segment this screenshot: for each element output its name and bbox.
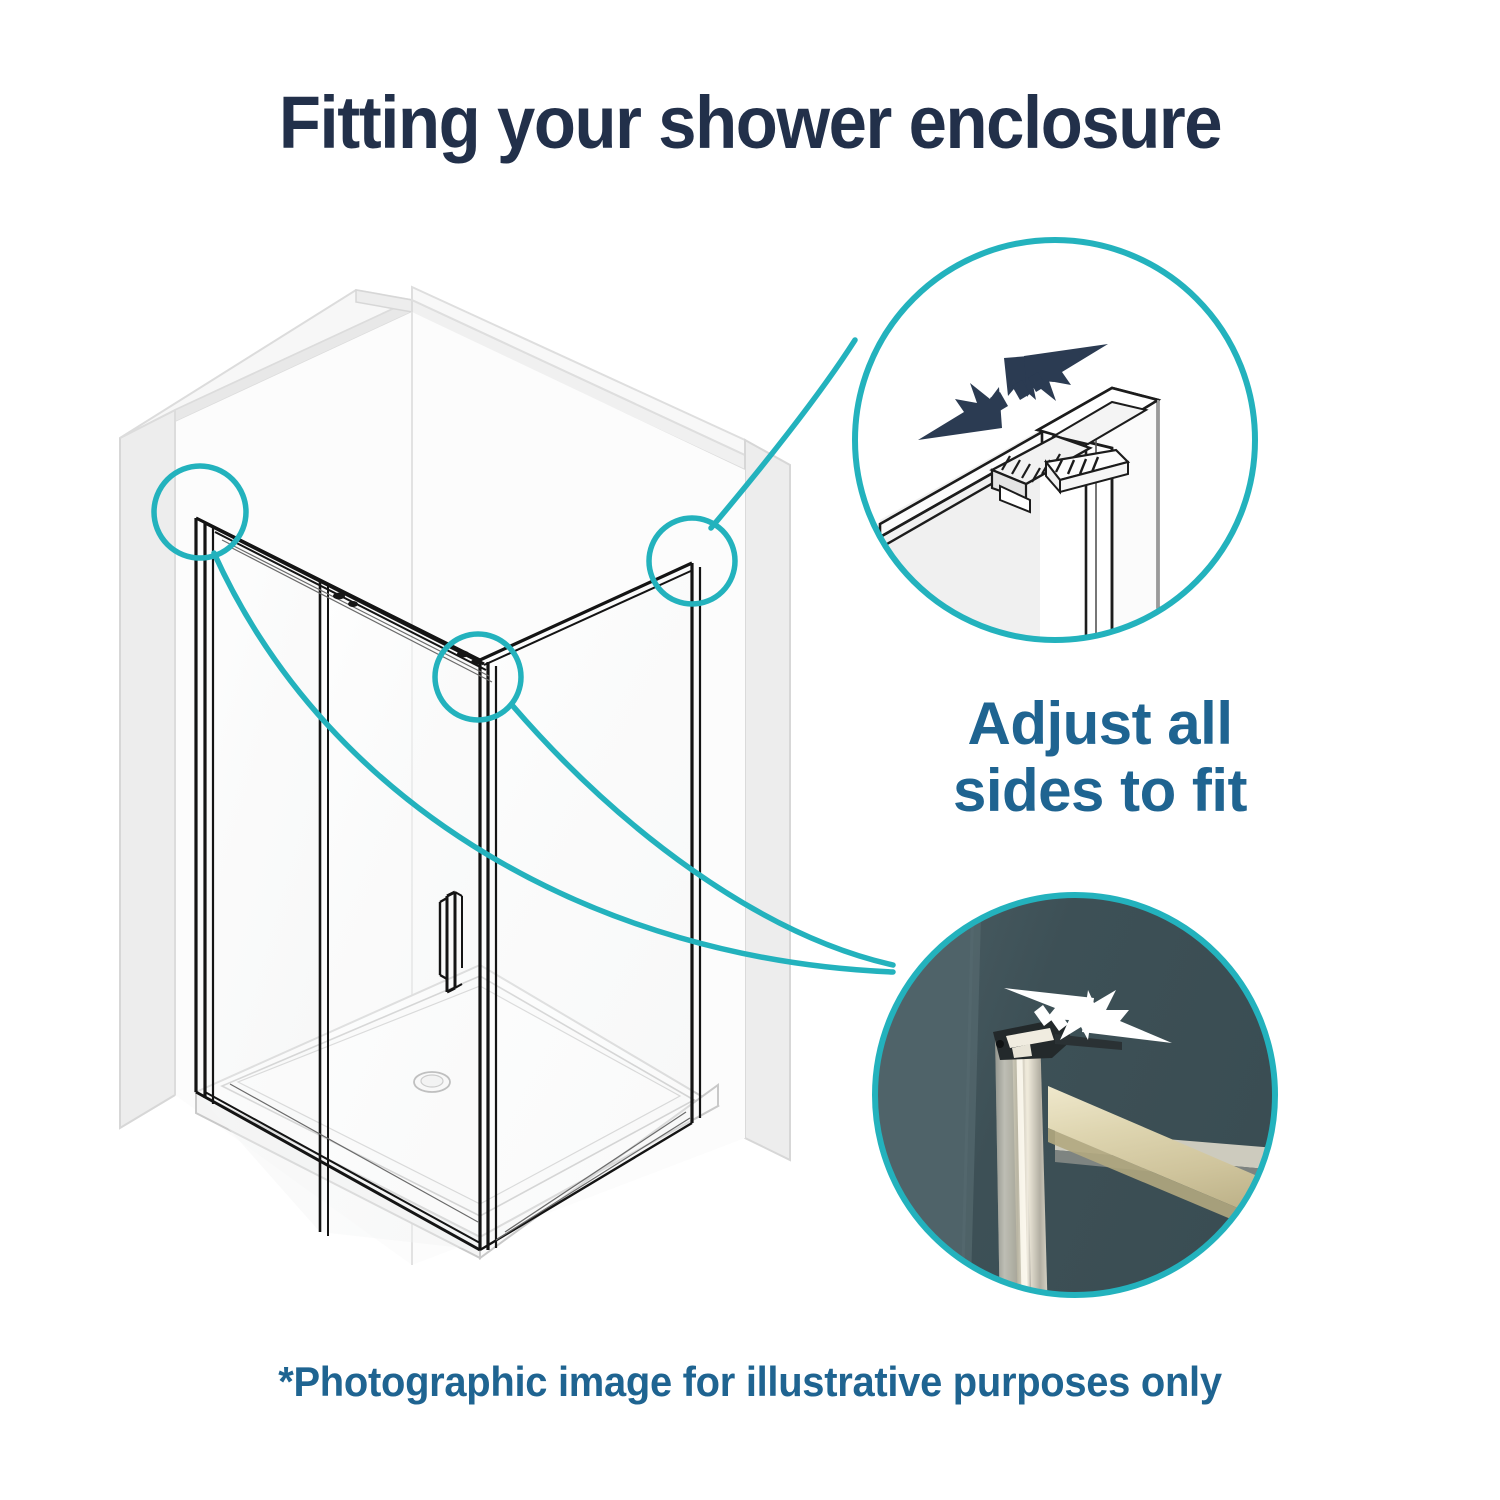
callout-line-2: sides to fit — [800, 757, 1400, 824]
callout-line-1: Adjust all — [800, 690, 1400, 757]
page-title: Fitting your shower enclosure — [53, 86, 1448, 160]
footer-disclaimer: *Photographic image for illustrative pur… — [38, 1358, 1463, 1406]
callout-label: Adjust all sides to fit — [800, 690, 1400, 824]
diagram-canvas: Fitting your shower enclosure Adjust all… — [0, 0, 1500, 1500]
